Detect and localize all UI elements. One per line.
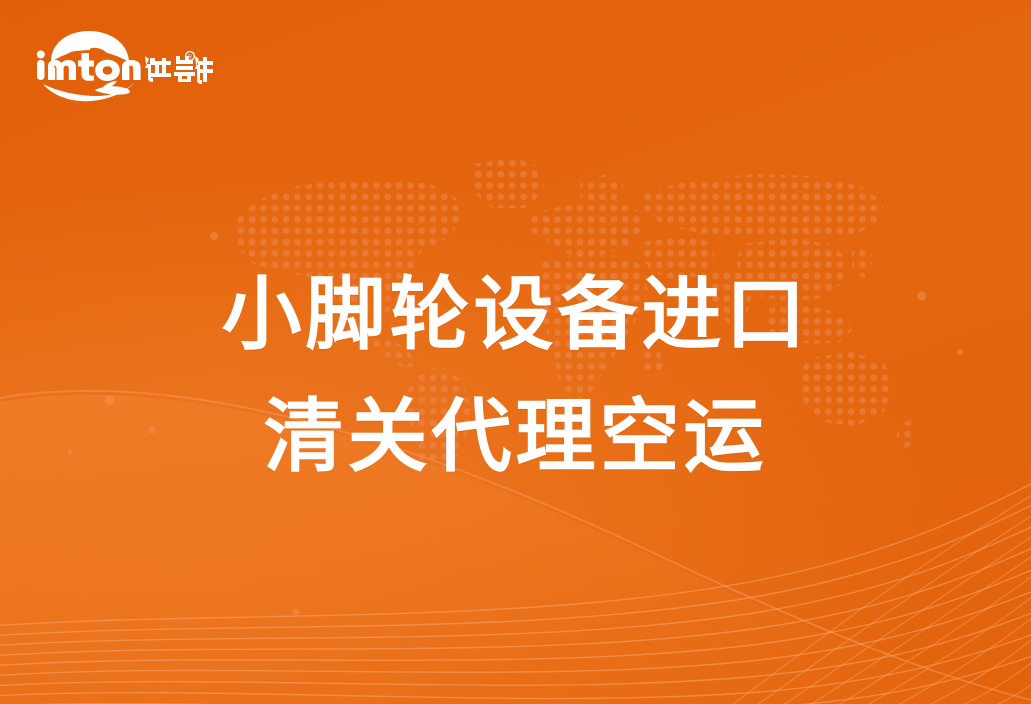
brand-logo[interactable]: R <box>33 28 213 102</box>
headline-line-2: 清关代理空运 <box>0 376 1031 498</box>
svg-text:R: R <box>188 55 192 61</box>
headline-line-1: 小脚轮设备进口 <box>0 254 1031 376</box>
globe-bird-logo: R <box>33 28 213 102</box>
headline: 小脚轮设备进口 清关代理空运 <box>0 254 1031 498</box>
promo-banner: R 小脚轮设备进口 清关代理空运 <box>0 0 1031 704</box>
